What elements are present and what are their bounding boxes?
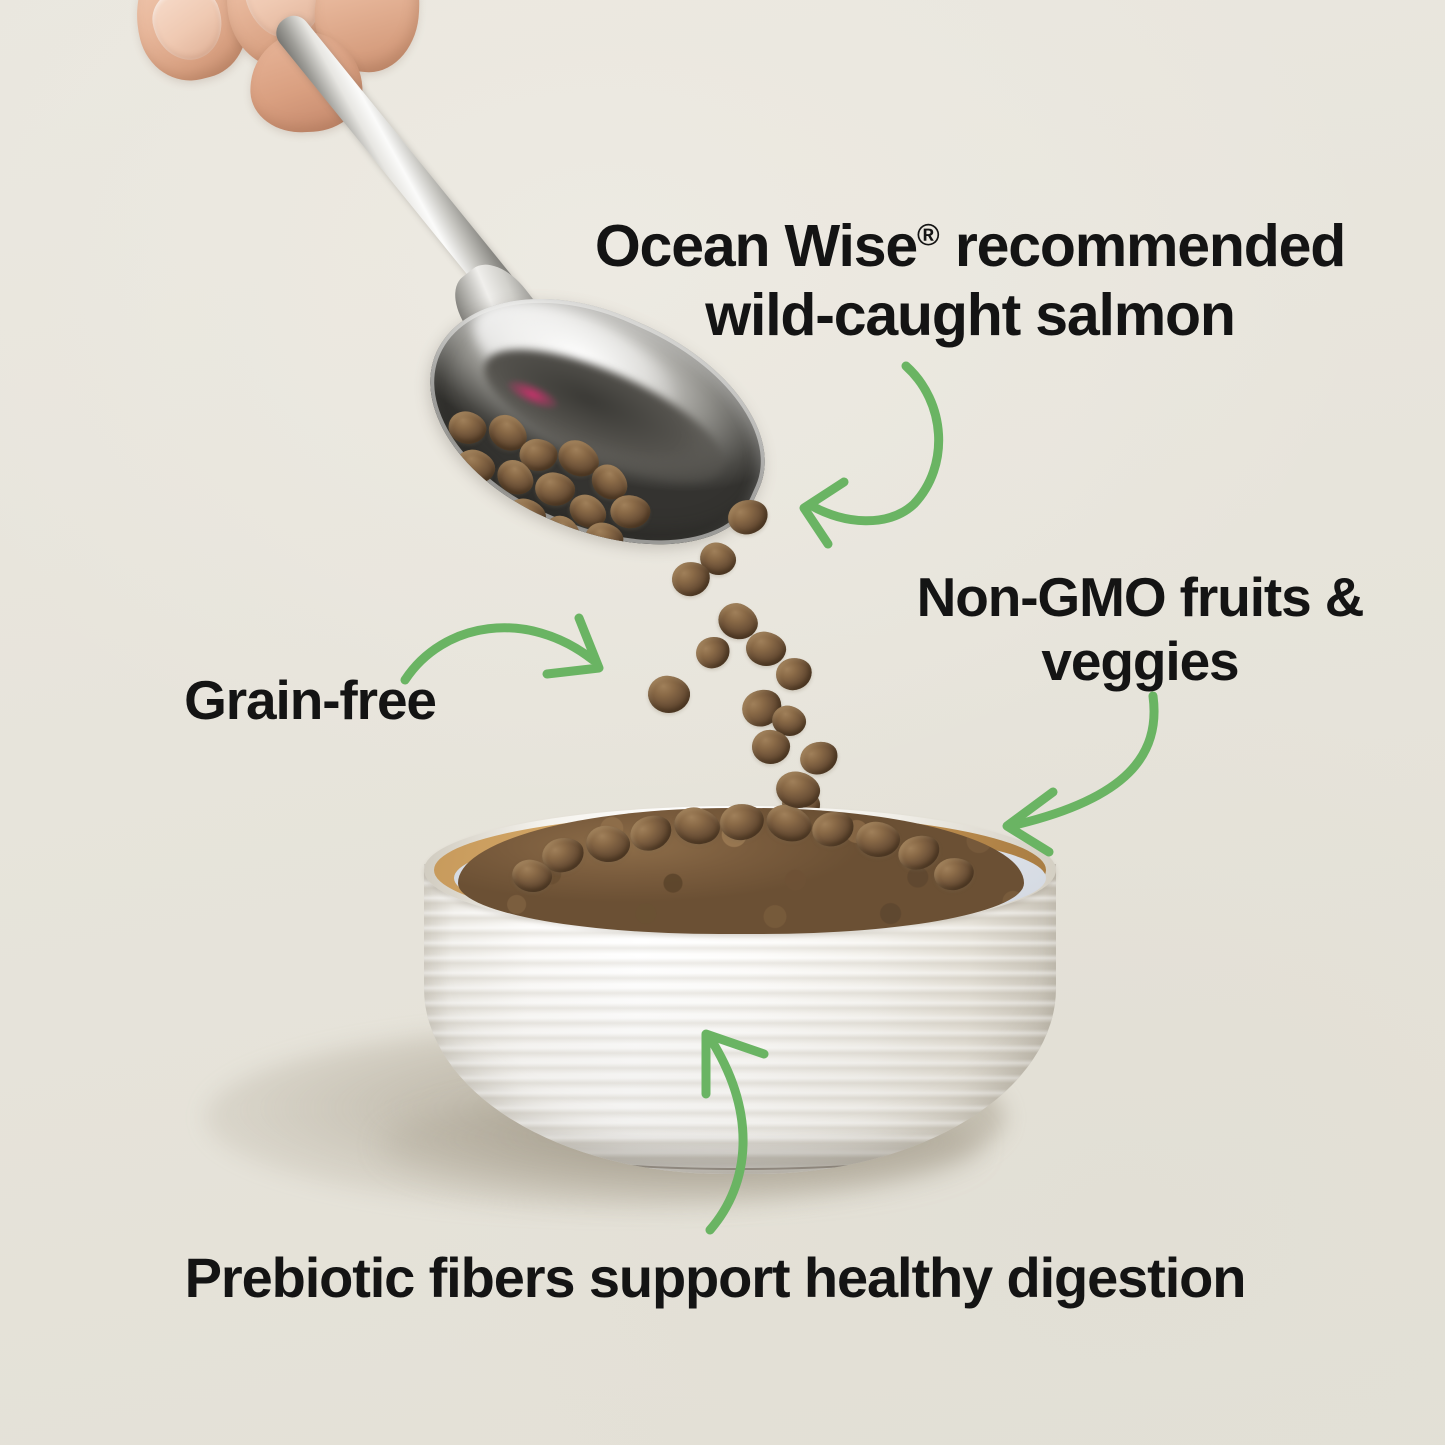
dog-bowl — [424, 806, 1056, 1176]
registered-trademark-icon: ® — [917, 217, 940, 252]
callout-salmon: Ocean Wise® recommended wild-caught salm… — [540, 212, 1400, 350]
hand — [130, 0, 420, 110]
callout-salmon-prefix: Ocean Wise — [595, 213, 917, 279]
product-infographic: Ocean Wise® recommended wild-caught salm… — [0, 0, 1445, 1445]
callout-grain-free: Grain-free — [130, 668, 490, 732]
callout-non-gmo: Non-GMO fruits & veggies — [905, 565, 1375, 694]
callout-prebiotic-fibers: Prebiotic fibers support healthy digesti… — [95, 1245, 1335, 1311]
